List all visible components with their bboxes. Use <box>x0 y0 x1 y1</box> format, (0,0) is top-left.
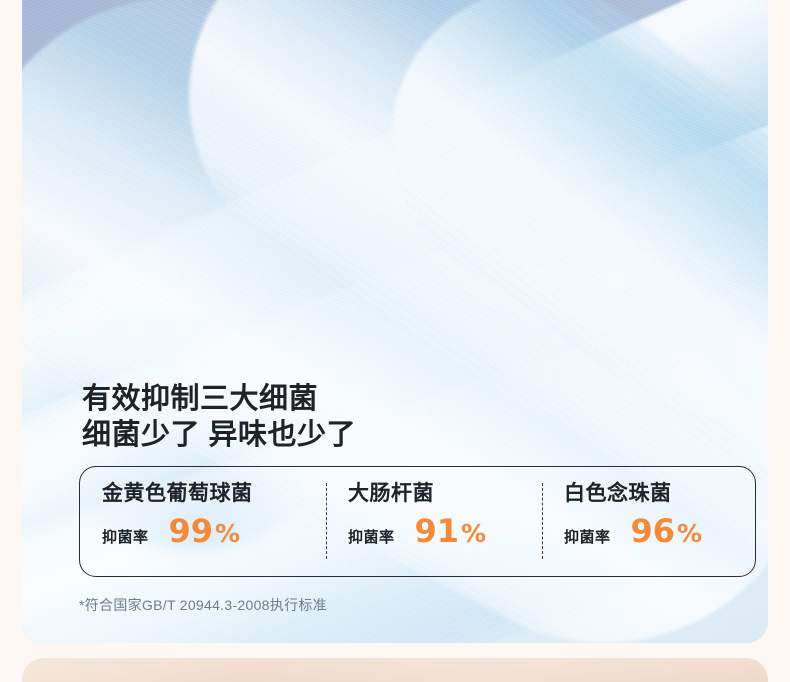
inhibition-rate-value: 99% <box>169 515 241 550</box>
stat-cell-escherichia-coli: 大肠杆菌 抑菌率 91% <box>326 467 542 576</box>
bacteria-name: 大肠杆菌 <box>348 481 542 507</box>
next-card-sheen <box>22 658 768 682</box>
rate-number: 99 <box>169 512 214 550</box>
bacteria-name: 金黄色葡萄球菌 <box>102 481 326 507</box>
inhibition-rate-label: 抑菌率 <box>102 526 149 547</box>
product-detail-page: 有效抑制三大细菌 细菌少了 异味也少了 金黄色葡萄球菌 抑菌率 99% 大肠杆菌… <box>0 0 790 682</box>
next-section-card <box>22 658 768 682</box>
rate-number: 96 <box>631 512 676 550</box>
inhibition-rate-value: 91% <box>415 515 487 550</box>
rate-number: 91 <box>415 512 460 550</box>
headline-line-2: 细菌少了 异味也少了 <box>82 417 356 453</box>
antibacterial-stats-card: 金黄色葡萄球菌 抑菌率 99% 大肠杆菌 抑菌率 91% 白色念珠菌 抑菌率 9… <box>79 466 756 577</box>
stat-cell-staphylococcus-aureus: 金黄色葡萄球菌 抑菌率 99% <box>80 467 326 576</box>
stat-cell-candida-albicans: 白色念珠菌 抑菌率 96% <box>542 467 755 576</box>
inhibition-rate-value: 96% <box>631 515 703 550</box>
percent-sign: % <box>215 519 240 548</box>
headline-line-1: 有效抑制三大细菌 <box>82 383 318 415</box>
hero-headline: 有效抑制三大细菌 细菌少了 异味也少了 <box>82 381 356 453</box>
standard-footnote: *符合国家GB/T 20944.3-2008执行标准 <box>79 595 327 615</box>
bacteria-name: 白色念珠菌 <box>564 481 755 507</box>
percent-sign: % <box>461 519 486 548</box>
percent-sign: % <box>677 519 702 548</box>
inhibition-rate-label: 抑菌率 <box>348 526 395 547</box>
stat-row: 抑菌率 91% <box>348 515 542 550</box>
inhibition-rate-label: 抑菌率 <box>564 526 611 547</box>
stat-row: 抑菌率 99% <box>102 515 326 550</box>
stat-row: 抑菌率 96% <box>564 515 755 550</box>
hero-image-card: 有效抑制三大细菌 细菌少了 异味也少了 金黄色葡萄球菌 抑菌率 99% 大肠杆菌… <box>22 0 768 643</box>
